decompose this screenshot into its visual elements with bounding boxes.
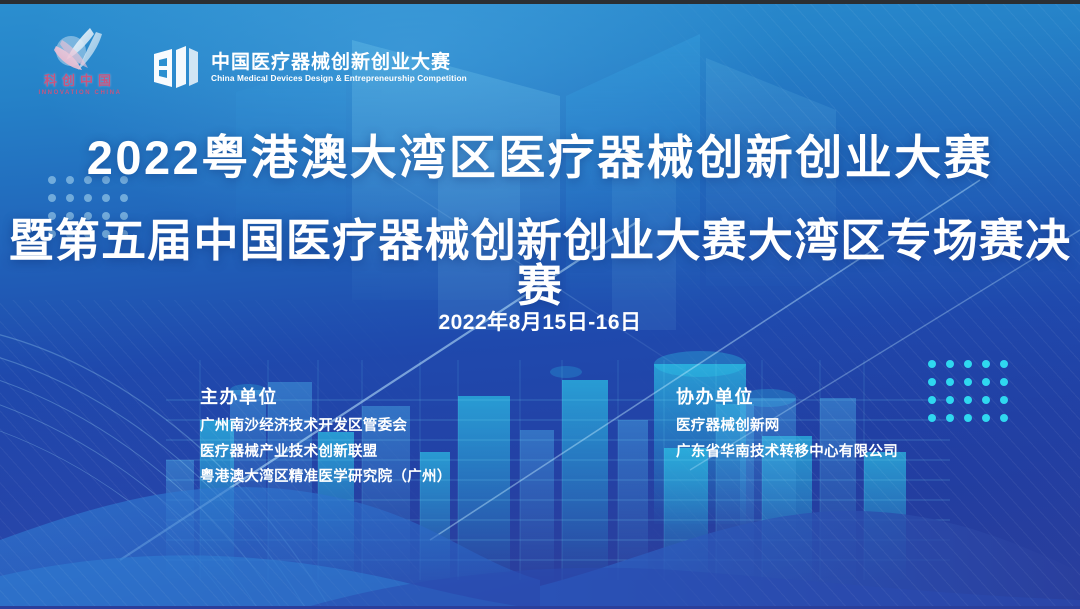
organizer-heading-coorganizer: 协办单位 [676,388,898,406]
organizer-entry: 广州南沙经济技术开发区管委会 [200,417,452,436]
organizer-entry: 医疗器械创新网 [676,417,898,436]
poster-title-line2: 暨第五届中国医疗器械创新创业大赛大湾区专场赛决赛 [0,218,1080,308]
organizer-entry: 粤港澳大湾区精准医学研究院（广州） [200,468,452,487]
logo-header: 科创中国 INNOVATION CHINA 中国医疗器械创新创业大赛 China… [36,26,467,96]
poster-title-line1: 2022粤港澳大湾区医疗器械创新创业大赛 [0,134,1080,181]
organizer-block-host: 主办单位 广州南沙经济技术开发区管委会 医疗器械产业技术创新联盟 粤港澳大湾区精… [200,388,452,487]
organizer-heading-host: 主办单位 [200,388,452,406]
innovation-china-logo: 科创中国 INNOVATION CHINA [36,26,124,96]
organizer-entry: 医疗器械产业技术创新联盟 [200,443,452,462]
competition-logo: 中国医疗器械创新创业大赛 China Medical Devices Desig… [152,46,467,96]
competition-logo-text: 中国医疗器械创新创业大赛 China Medical Devices Desig… [211,53,467,82]
competition-name-cn: 中国医疗器械创新创业大赛 [211,53,467,72]
innovation-china-cn: 科创中国 [36,74,124,87]
open-book-mark-icon [152,46,200,90]
bird-logo-icon [44,26,114,74]
organizer-entry: 广东省华南技术转移中心有限公司 [676,443,898,462]
event-date: 2022年8月15日-16日 [0,312,1080,333]
organizer-block-coorganizer: 协办单位 医疗器械创新网 广东省华南技术转移中心有限公司 [676,388,898,461]
competition-name-en: China Medical Devices Design & Entrepren… [211,74,467,82]
event-poster: 科创中国 INNOVATION CHINA 中国医疗器械创新创业大赛 China… [0,0,1080,609]
innovation-china-en: INNOVATION CHINA [36,90,124,96]
top-border-strip [0,0,1080,4]
organizer-section: 主办单位 广州南沙经济技术开发区管委会 医疗器械产业技术创新联盟 粤港澳大湾区精… [0,388,1080,508]
